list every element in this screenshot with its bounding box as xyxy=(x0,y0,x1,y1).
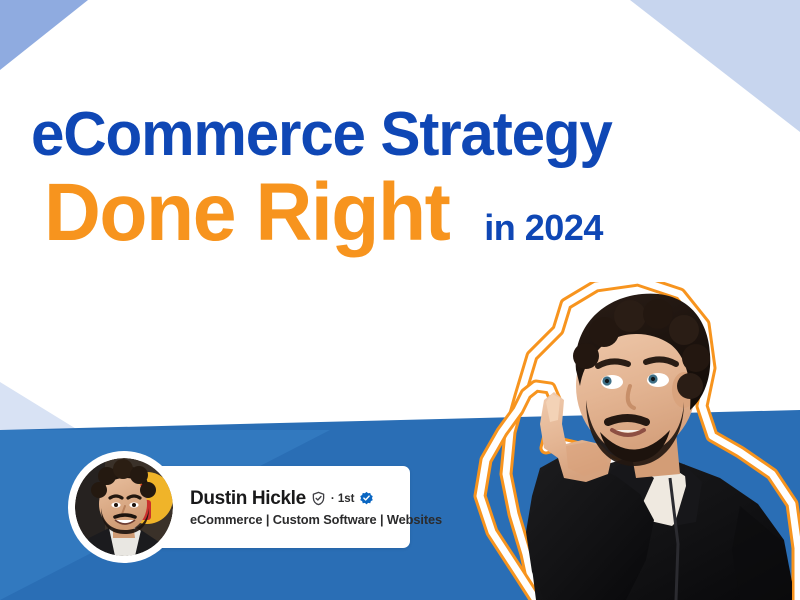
linkedin-verified-badge-icon[interactable] xyxy=(359,491,374,506)
verified-shield-icon[interactable] xyxy=(311,491,326,506)
profile-name: Dustin Hickle xyxy=(190,488,306,510)
profile-headline: eCommerce | Custom Software | Websites xyxy=(190,512,442,527)
avatar xyxy=(75,458,173,556)
profile-card-text: Dustin Hickle · 1st eCommerce | Custom S… xyxy=(190,488,442,527)
connection-degree: · 1st xyxy=(331,493,355,505)
avatar-photo-icon xyxy=(75,458,173,556)
profile-card[interactable]: Dustin Hickle · 1st eCommerce | Custom S… xyxy=(88,466,410,548)
presenter-cutout-image xyxy=(440,282,800,600)
promo-graphic-canvas: eCommerce Strategy Done Right in 2024 xyxy=(0,0,800,600)
profile-name-row: Dustin Hickle · 1st xyxy=(190,488,442,510)
